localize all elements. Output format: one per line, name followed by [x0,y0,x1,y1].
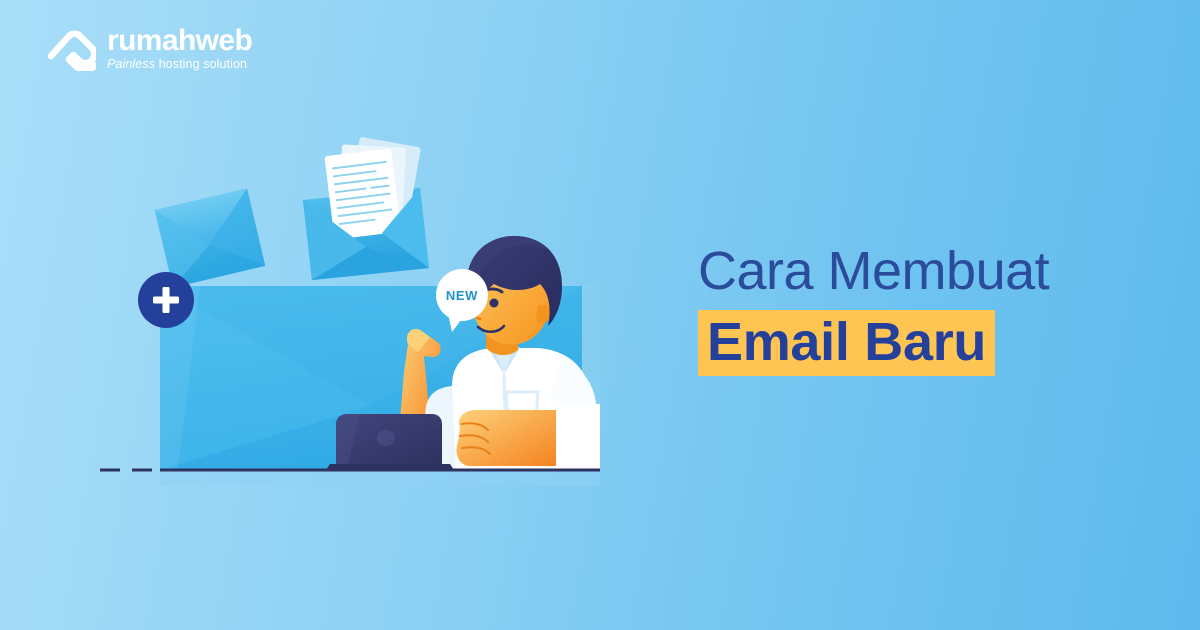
headline-block: Cara Membuat Email Baru [698,243,1049,376]
headline-line-1: Cara Membuat [698,243,1049,299]
brand-tagline: Painless hosting solution [107,57,252,71]
headline-line-2-wrapper: Email Baru [698,310,1049,376]
open-envelope-with-documents [303,137,429,280]
add-new-plus-button [138,272,194,328]
brand-name: rumahweb [107,26,252,56]
desk-line [0,470,1200,486]
brand-tagline-rest: hosting solution [155,57,247,71]
brand-tagline-italic: Painless [107,57,155,71]
banner-canvas: NEW rumahweb Painless hosting solution C… [0,0,1200,630]
brand-logo[interactable]: rumahweb Painless hosting solution [48,26,252,71]
person-right-hand [456,404,600,470]
laptop [326,414,454,470]
brand-wordmark: rumahweb Painless hosting solution [107,26,252,71]
new-badge-label: NEW [446,288,478,303]
rumahweb-chevron-logo-icon [48,27,96,71]
headline-line-2-highlighted: Email Baru [698,310,995,376]
